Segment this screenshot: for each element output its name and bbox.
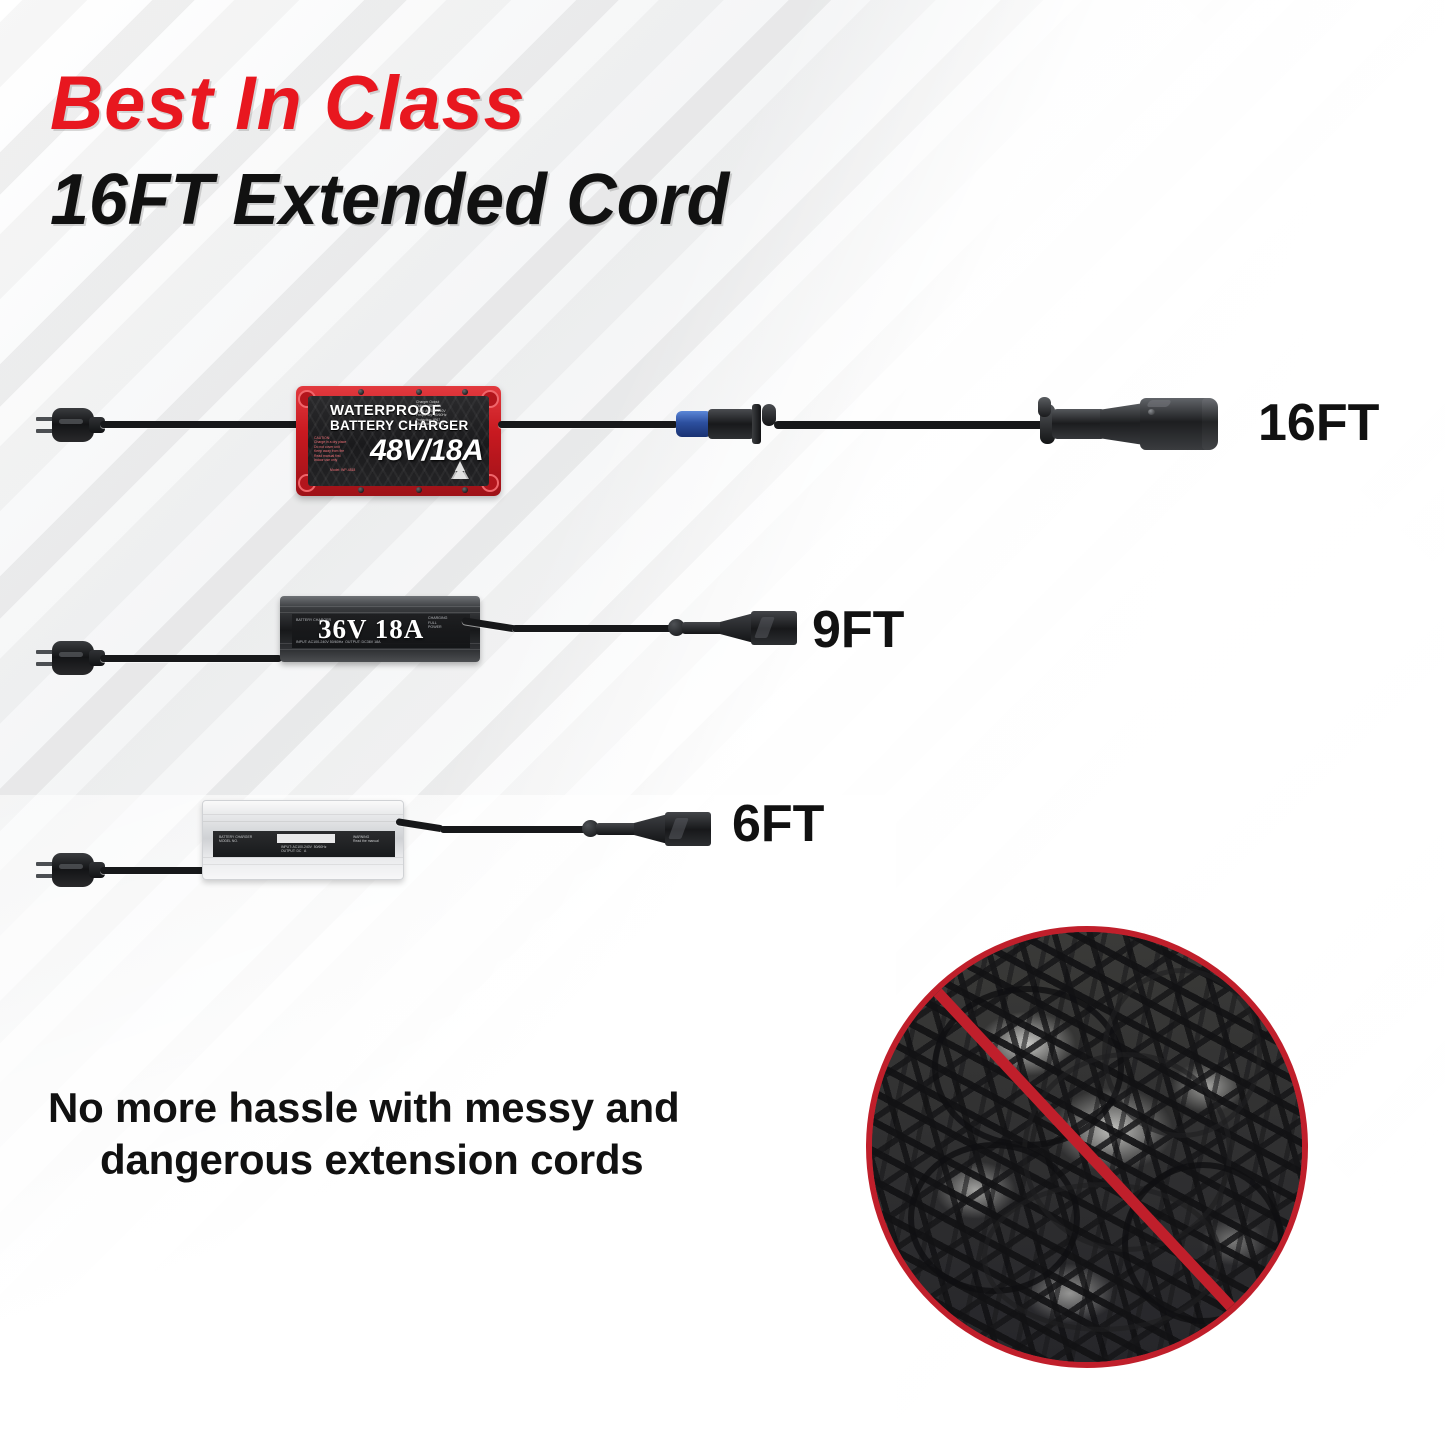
charger-micro-left: BATTERY CHARGER MODEL NO.: [219, 835, 252, 844]
charger-silver: BATTERY CHARGER MODEL NO. INPUT: AC100-2…: [202, 800, 404, 880]
spade-connector-icon: [582, 812, 714, 846]
tangled-cords-inset: [866, 926, 1308, 1368]
headline-group: Best In Class 16FT Extended Cord: [50, 66, 750, 236]
charger-title-battery-charger: BATTERY CHARGER: [330, 418, 469, 433]
brand-flame-logo-icon: [445, 460, 475, 482]
charger-spec-output: Charger Output Output: 48V 18A Input: AC…: [416, 400, 447, 426]
charger-spec-caution: CAUTION: Charge in a dry place Do not co…: [314, 436, 346, 462]
charger-waterproof-48v: WATERPROOF BATTERY CHARGER 48V/18A CAUTI…: [296, 386, 501, 496]
charger-36v-18a: 36V 18A BATTERY CHARGER INPUT: AC100-240…: [280, 596, 480, 662]
case-screw: [462, 389, 468, 395]
cord-loop-4: [1102, 968, 1262, 1138]
ac-plug-icon: [36, 641, 94, 675]
charger-micro-bottom: INPUT: AC100-240V 50/60Hz OUTPUT: DC36V …: [296, 640, 381, 645]
cord-ac-to-charger: [100, 655, 282, 662]
case-screw: [416, 389, 422, 395]
charger-micro-center: INPUT: AC100-240V 50/60Hz OUTPUT: DC A: [281, 845, 326, 854]
case-screw: [416, 487, 422, 493]
cord-loop-6: [1122, 1162, 1284, 1324]
spade-connector-icon: [668, 611, 800, 645]
ac-plug-icon: [36, 853, 94, 887]
length-label-16ft: 16FT: [1258, 397, 1379, 449]
black-coupler-body: [708, 409, 754, 439]
charger-label-blank-field: [277, 834, 335, 843]
coupler-flange: [752, 404, 761, 444]
caption-line-1: No more hassle with messy and: [48, 1084, 679, 1131]
ac-plug-icon: [36, 408, 94, 442]
headline-best-in-class: Best In Class: [50, 66, 729, 142]
cord-extension-16ft: [774, 421, 1050, 429]
cord-charger-to-connector: [498, 421, 678, 428]
charger-spec-model: Model: WP-4818: [330, 468, 355, 472]
cord-ac-to-charger: [100, 867, 206, 874]
case-screw: [358, 487, 364, 493]
caption-line-2: dangerous extension cords: [48, 1134, 838, 1186]
cord-output-6ft-b: [440, 826, 588, 833]
infographic-canvas: Best In Class 16FT Extended Cord WATERPR…: [0, 0, 1445, 1445]
charger-micro-right: WARNING Read the manual: [353, 835, 379, 844]
length-label-6ft: 6FT: [732, 798, 824, 850]
cord-output-9ft-b: [512, 625, 674, 632]
headline-extended-cord: 16FT Extended Cord: [50, 164, 729, 236]
charger-label-panel: WATERPROOF BATTERY CHARGER 48V/18A CAUTI…: [308, 396, 489, 486]
cord-ac-to-charger: [100, 421, 300, 428]
barrel-connector-icon: [1052, 396, 1222, 454]
case-screw: [358, 389, 364, 395]
length-label-9ft: 9FT: [812, 604, 904, 656]
bottom-caption: No more hassle with messy and dangerous …: [48, 1082, 838, 1186]
charger-micro-left: BATTERY CHARGER: [296, 618, 331, 623]
blue-waterproof-connector-icon: [676, 411, 710, 437]
case-screw: [462, 487, 468, 493]
charger-micro-right: CHARGING FULL POWER: [428, 616, 447, 630]
